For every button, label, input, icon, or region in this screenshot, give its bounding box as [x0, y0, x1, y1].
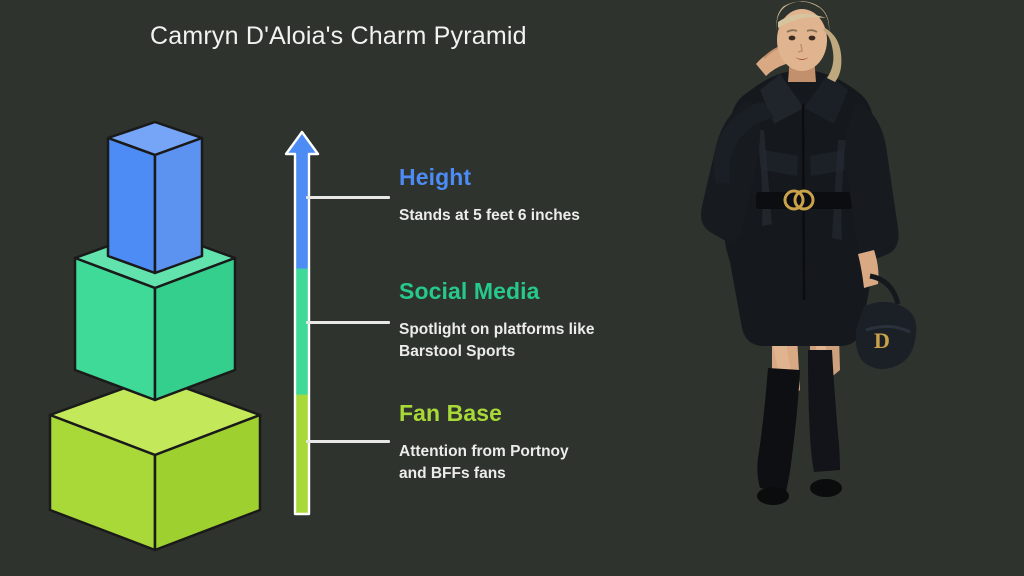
- info-block-social-media: Social Media Spotlight on platforms like…: [399, 278, 674, 363]
- eye-right: [809, 36, 816, 41]
- person-figure: D: [701, 1, 916, 505]
- block-description-fan-base-line1: Attention from Portnoy: [399, 441, 674, 463]
- top-tier-left-face: [108, 138, 155, 273]
- bag-logo-icon: D: [874, 328, 890, 353]
- page-title: Camryn D'Aloia's Charm Pyramid: [150, 22, 527, 51]
- pyramid-tier-top: [108, 122, 202, 273]
- pyramid-tier-bottom: [50, 377, 260, 550]
- connector-line-height: [306, 196, 390, 199]
- block-description-social-media-line2: Barstool Sports: [399, 341, 674, 363]
- block-heading-fan-base: Fan Base: [399, 400, 674, 427]
- connector-line-fan-base: [306, 440, 390, 443]
- eye-left: [789, 36, 796, 41]
- top-tier-right-face: [155, 138, 202, 273]
- block-description-height: Stands at 5 feet 6 inches: [399, 205, 674, 227]
- block-description-social-media-line1: Spotlight on platforms like: [399, 319, 674, 341]
- pyramid-diagram: [30, 110, 280, 560]
- boot-left: [757, 368, 800, 492]
- block-heading-height: Height: [399, 164, 674, 191]
- svg-text:D: D: [874, 328, 890, 353]
- info-block-fan-base: Fan Base Attention from Portnoy and BFFs…: [399, 400, 674, 485]
- info-block-height: Height Stands at 5 feet 6 inches: [399, 164, 674, 227]
- block-heading-social-media: Social Media: [399, 278, 674, 305]
- connector-line-social-media: [306, 321, 390, 324]
- block-description-fan-base-line2: and BFFs fans: [399, 463, 674, 485]
- person-photo: D: [660, 0, 1024, 576]
